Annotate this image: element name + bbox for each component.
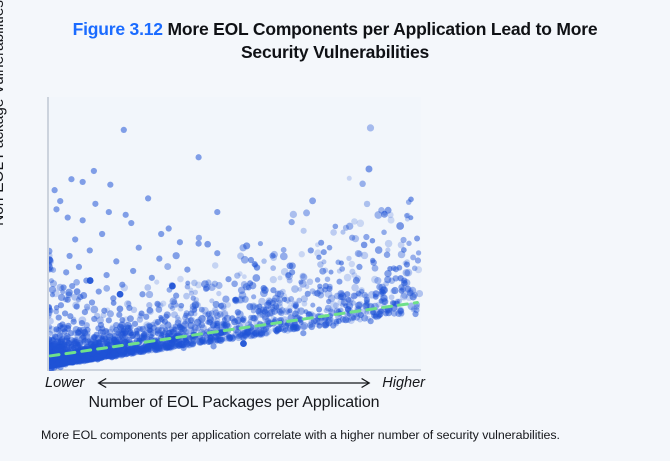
scatter-point: [389, 294, 395, 300]
scatter-point: [184, 267, 190, 273]
scatter-point: [204, 241, 211, 248]
scatter-point: [368, 291, 376, 299]
scatter-point: [62, 328, 68, 334]
scatter-point: [103, 285, 110, 292]
scatter-point: [175, 315, 180, 320]
scatter-point: [68, 176, 74, 182]
scatter-point: [121, 127, 127, 133]
scatter-point: [80, 217, 86, 223]
scatter-point: [106, 209, 112, 215]
scatter-point: [384, 252, 390, 258]
scatter-point: [95, 356, 101, 362]
scatter-point: [169, 283, 176, 290]
scatter-point: [71, 319, 77, 325]
scatter-point: [53, 326, 59, 332]
scatter-point: [400, 293, 408, 301]
scatter-point: [123, 212, 129, 218]
scatter-point: [117, 305, 124, 312]
x-axis-higher-label: Higher: [382, 375, 425, 391]
scatter-point: [287, 300, 292, 305]
scatter-point: [315, 277, 320, 282]
scatter-point: [107, 182, 113, 188]
scatter-point: [104, 272, 110, 278]
scatter-point: [109, 354, 115, 360]
scatter-point: [154, 279, 159, 284]
scatter-point: [84, 327, 90, 333]
scatter-point: [69, 283, 75, 289]
scatter-point: [67, 313, 73, 319]
scatter-point: [173, 293, 179, 299]
scatter-point: [329, 270, 334, 275]
scatter-point: [308, 247, 314, 253]
scatter-point: [53, 309, 59, 315]
scatter-point: [321, 249, 327, 255]
x-axis-label: Number of EOL Packages per Application: [38, 394, 430, 412]
scatter-point: [412, 311, 418, 317]
scatter-point: [410, 255, 416, 261]
scatter-point: [119, 334, 126, 341]
scatter-point: [112, 333, 118, 339]
scatter-point: [251, 332, 258, 339]
scatter-point: [72, 236, 78, 242]
scatter-point: [107, 310, 114, 317]
scatter-point: [393, 275, 399, 281]
scatter-point: [154, 301, 160, 307]
x-axis-direction-row: Lower Higher: [45, 374, 425, 392]
scatter-point: [289, 269, 295, 275]
scatter-point: [240, 340, 247, 347]
scatter-point: [119, 282, 125, 288]
scatter-point: [330, 229, 337, 236]
scatter-point: [398, 251, 406, 259]
scatter-point: [306, 311, 312, 317]
scatter-point: [300, 330, 306, 336]
scatter-point: [146, 291, 153, 298]
scatter-point: [350, 300, 356, 306]
scatter-point: [401, 277, 407, 283]
scatter-point: [287, 262, 294, 269]
scatter-point: [406, 241, 411, 246]
scatter-point: [74, 355, 80, 361]
scatter-point: [328, 295, 336, 303]
scatter-point: [368, 318, 374, 324]
scatter-point: [243, 242, 250, 249]
scatter-point: [294, 324, 299, 329]
scatter-point: [173, 252, 180, 259]
scatter-point: [196, 240, 202, 246]
scatter-point: [216, 291, 221, 296]
scatter-point: [363, 234, 369, 240]
scatter-point: [293, 302, 299, 308]
scatter-point: [351, 315, 357, 321]
scatter-point: [80, 179, 86, 185]
scatter-point: [77, 294, 83, 300]
scatter-point: [375, 246, 383, 254]
scatter-point: [250, 315, 256, 321]
scatter-point: [164, 263, 171, 270]
scatter-point: [287, 278, 293, 284]
scatter-point: [255, 308, 261, 314]
scatter-point: [79, 320, 85, 326]
scatter-point: [110, 295, 116, 301]
scatter-point: [370, 238, 376, 244]
scatter-point: [75, 330, 81, 336]
scatter-point: [100, 351, 106, 357]
scatter-point: [195, 281, 202, 288]
scatter-point: [214, 209, 220, 215]
scatter-point: [92, 201, 98, 207]
scatter-point: [340, 230, 345, 235]
scatter-point: [232, 331, 239, 338]
scatter-point: [361, 242, 368, 249]
scatter-point: [65, 214, 71, 220]
scatter-point: [299, 251, 305, 257]
scatter-point: [385, 207, 392, 214]
scatter-point: [151, 325, 157, 331]
scatter-point: [221, 311, 229, 319]
scatter-point: [216, 338, 221, 343]
scatter-point: [203, 286, 209, 292]
scatter-point: [388, 217, 395, 224]
scatter-point: [208, 284, 216, 292]
scatter-point: [397, 265, 403, 271]
scatter-point: [152, 347, 158, 353]
scatter-point: [351, 284, 359, 292]
scatter-point: [356, 251, 363, 258]
scatter-point: [270, 287, 276, 293]
scatter-point: [222, 295, 229, 302]
scatter-point: [359, 181, 365, 187]
scatter-point: [356, 264, 362, 270]
scatter-point: [68, 330, 74, 336]
scatter-point: [337, 268, 342, 273]
scatter-point: [270, 276, 277, 283]
scatter-point: [381, 230, 387, 236]
scatter-point: [407, 288, 413, 294]
scatter-point: [166, 225, 172, 231]
scatter-point: [315, 242, 320, 247]
scatter-point: [207, 319, 213, 325]
scatter-point: [289, 219, 295, 225]
scatter-point: [121, 328, 127, 334]
scatter-point: [116, 312, 122, 318]
scatter-point: [403, 269, 410, 276]
scatter-point: [136, 245, 142, 251]
scatter-point: [396, 222, 404, 230]
scatter-point: [216, 282, 223, 289]
scatter-point: [96, 288, 102, 294]
scatter-point: [390, 288, 396, 294]
scatter-point: [225, 276, 231, 282]
scatter-point: [138, 313, 144, 319]
scatter-point: [136, 326, 141, 331]
scatter-point: [144, 284, 151, 291]
scatter-point: [352, 235, 359, 242]
scatter-point: [374, 211, 382, 219]
scatter-point: [102, 336, 108, 342]
scatter-point: [90, 306, 98, 314]
scatter-point: [91, 316, 97, 322]
scatter-point: [65, 297, 71, 303]
scatter-point: [213, 309, 220, 316]
scatter-point: [325, 276, 331, 282]
scatter-point: [101, 308, 107, 314]
scatter-point: [59, 321, 65, 327]
scatter-point: [80, 334, 86, 340]
scatter-point: [249, 282, 256, 289]
figure-title-text: More EOL Components per Application Lead…: [168, 19, 598, 62]
scatter-point: [344, 274, 352, 282]
scatter-point: [168, 303, 174, 309]
scatter-point: [87, 247, 93, 253]
scatter-point: [163, 327, 168, 332]
scatter-point: [147, 333, 153, 339]
scatter-point: [130, 268, 136, 274]
y-axis-label: Non-EOL Package Vulnerabilities: [0, 0, 8, 263]
scatter-point: [347, 176, 352, 181]
scatter-point: [336, 279, 342, 285]
scatter-point: [181, 345, 187, 351]
scatter-point: [265, 312, 271, 318]
scatter-point: [349, 261, 355, 267]
scatter-point: [399, 288, 405, 294]
figure-caption: More EOL components per application corr…: [41, 428, 641, 442]
scatter-point: [251, 294, 256, 299]
scatter-point: [263, 326, 269, 332]
scatter-point: [188, 287, 193, 292]
scatter-point: [127, 315, 134, 322]
scatter-point: [316, 255, 321, 260]
scatter-point: [113, 258, 119, 264]
scatter-point: [356, 290, 362, 296]
scatter-points-group: [49, 124, 423, 371]
scatter-point: [199, 337, 205, 343]
scatter-point: [379, 288, 385, 294]
scatter-point: [365, 166, 372, 173]
scatter-point: [357, 220, 365, 228]
scatter-point: [258, 241, 263, 246]
scatter-point: [310, 303, 315, 308]
scatter-point: [76, 264, 82, 270]
scatter-point: [74, 304, 80, 310]
scatter-point: [183, 293, 190, 300]
scatter-point: [164, 311, 171, 318]
scatter-point: [52, 187, 58, 193]
scatter-point: [65, 289, 73, 297]
scatter-point: [270, 265, 276, 271]
scatter-point: [49, 278, 54, 283]
scatter-point: [210, 343, 216, 349]
scatter-point: [281, 247, 287, 253]
scatter-point: [89, 299, 95, 305]
scatter-point: [414, 304, 420, 310]
scatter-point: [364, 201, 370, 207]
scatter-point: [169, 325, 177, 333]
scatter-point: [233, 297, 239, 303]
scatter-point: [290, 211, 297, 218]
scatter-point: [231, 281, 238, 288]
scatter-point: [139, 291, 145, 297]
scatter-point: [147, 308, 154, 315]
scatter-point: [63, 269, 69, 275]
scatter-point: [188, 310, 194, 316]
scatter-point: [66, 253, 72, 259]
scatter-point: [252, 274, 260, 282]
scatter-point: [261, 285, 267, 291]
scatter-point: [93, 332, 99, 338]
scatter-point: [149, 275, 155, 281]
scatter-point: [212, 262, 219, 269]
double-headed-arrow-icon: [92, 377, 376, 389]
scatter-point: [238, 271, 243, 276]
scatter-point: [71, 338, 77, 344]
scatter-point: [385, 240, 393, 248]
scatter-point: [118, 348, 124, 354]
scatter-point: [383, 281, 389, 287]
scatter-point: [372, 265, 379, 272]
scatter-point: [56, 314, 62, 320]
scatter-point: [367, 124, 374, 131]
scatter-point: [158, 344, 163, 349]
scatter-point: [191, 296, 196, 301]
scatter-point: [132, 321, 138, 327]
scatter-point: [91, 168, 97, 174]
scatter-point: [397, 308, 403, 314]
scatter-point: [138, 346, 144, 352]
scatter-point: [178, 303, 184, 309]
scatter-point: [215, 320, 221, 326]
scatter-point: [414, 235, 420, 241]
scatter-point: [196, 235, 202, 241]
scatter-point: [305, 284, 310, 289]
scatter-point: [106, 317, 112, 323]
scatter-point: [141, 331, 147, 337]
scatter-point: [82, 309, 88, 315]
scatter-point: [321, 259, 326, 264]
scatter-point: [330, 322, 336, 328]
scatter-point: [49, 318, 54, 325]
scatter-point: [174, 303, 179, 308]
scatter-point: [57, 198, 63, 204]
scatter-point: [156, 256, 162, 262]
scatter-point: [326, 286, 332, 292]
scatter-point: [400, 237, 406, 243]
scatter-point: [192, 302, 199, 309]
scatter-point: [242, 274, 247, 279]
scatter-point: [126, 305, 132, 311]
scatter-point: [209, 298, 214, 303]
scatter-point: [162, 319, 168, 325]
scatter-point: [185, 281, 190, 286]
scatter-point: [323, 320, 330, 327]
scatter-point: [99, 231, 105, 237]
scatter-point: [143, 314, 149, 320]
scatter-point: [62, 310, 68, 316]
scatter-point: [98, 322, 104, 328]
scatter-point: [117, 291, 124, 298]
scatter-point: [346, 256, 351, 261]
scatter-point: [177, 239, 183, 245]
figure-title: Figure 3.12 More EOL Components per Appl…: [55, 18, 615, 64]
scatter-point: [214, 250, 220, 256]
scatter-point: [280, 253, 288, 261]
scatter-point: [271, 251, 278, 258]
scatter-point: [416, 250, 421, 255]
scatter-point: [50, 292, 55, 297]
scatter-point: [297, 287, 302, 292]
scatter-point: [86, 352, 92, 358]
scatter-point: [303, 209, 310, 216]
scatter-point: [134, 331, 140, 337]
scatter-point: [193, 290, 198, 295]
scatter-point: [87, 277, 94, 284]
scatter-point: [278, 276, 283, 281]
scatter-point: [229, 315, 235, 321]
figure-container: Figure 3.12 More EOL Components per Appl…: [0, 0, 670, 461]
scatter-point: [145, 195, 151, 201]
scatter-point: [307, 278, 314, 285]
scatter-point: [196, 317, 202, 323]
scatter-point: [246, 303, 253, 310]
scatter-point: [300, 273, 305, 278]
scatter-point: [412, 266, 418, 272]
x-axis-lower-label: Lower: [45, 375, 85, 391]
scatter-point: [338, 294, 344, 300]
scatter-point: [302, 301, 308, 307]
scatter-plot-area: [47, 97, 421, 371]
scatter-point: [53, 206, 59, 212]
scatter-point: [351, 272, 357, 278]
scatter-point: [261, 258, 267, 264]
scatter-point: [283, 308, 291, 316]
scatter-point: [309, 197, 316, 204]
scatter-point: [351, 218, 357, 224]
scatter-point: [284, 327, 291, 334]
figure-number-label: Figure 3.12: [73, 19, 163, 39]
scatter-point: [238, 287, 245, 294]
scatter-point: [177, 276, 184, 283]
scatter-point: [272, 295, 280, 303]
scatter-point: [327, 245, 333, 251]
scatter-point: [68, 359, 74, 365]
scatter-point: [384, 270, 391, 277]
scatter-point: [77, 342, 83, 348]
scatter-point: [237, 253, 244, 260]
scatter-point: [364, 297, 370, 303]
scatter-point: [158, 231, 164, 237]
scatter-point: [58, 302, 64, 308]
scatter-point: [252, 261, 258, 267]
scatter-point: [143, 347, 148, 352]
scatter-point: [109, 326, 115, 332]
scatter-point: [128, 349, 134, 355]
scatter-point: [312, 290, 318, 296]
scatter-plot-canvas: [49, 97, 423, 371]
scatter-point: [374, 277, 381, 284]
scatter-point: [361, 315, 368, 322]
scatter-point: [317, 284, 322, 289]
scatter-point: [408, 215, 413, 220]
scatter-point: [301, 228, 307, 234]
scatter-point: [60, 284, 66, 290]
scatter-point: [128, 220, 134, 226]
scatter-point: [323, 268, 328, 273]
scatter-point: [370, 259, 376, 265]
scatter-point: [224, 336, 230, 342]
scatter-point: [333, 224, 339, 230]
scatter-point: [88, 341, 94, 347]
scatter-point: [68, 344, 74, 350]
